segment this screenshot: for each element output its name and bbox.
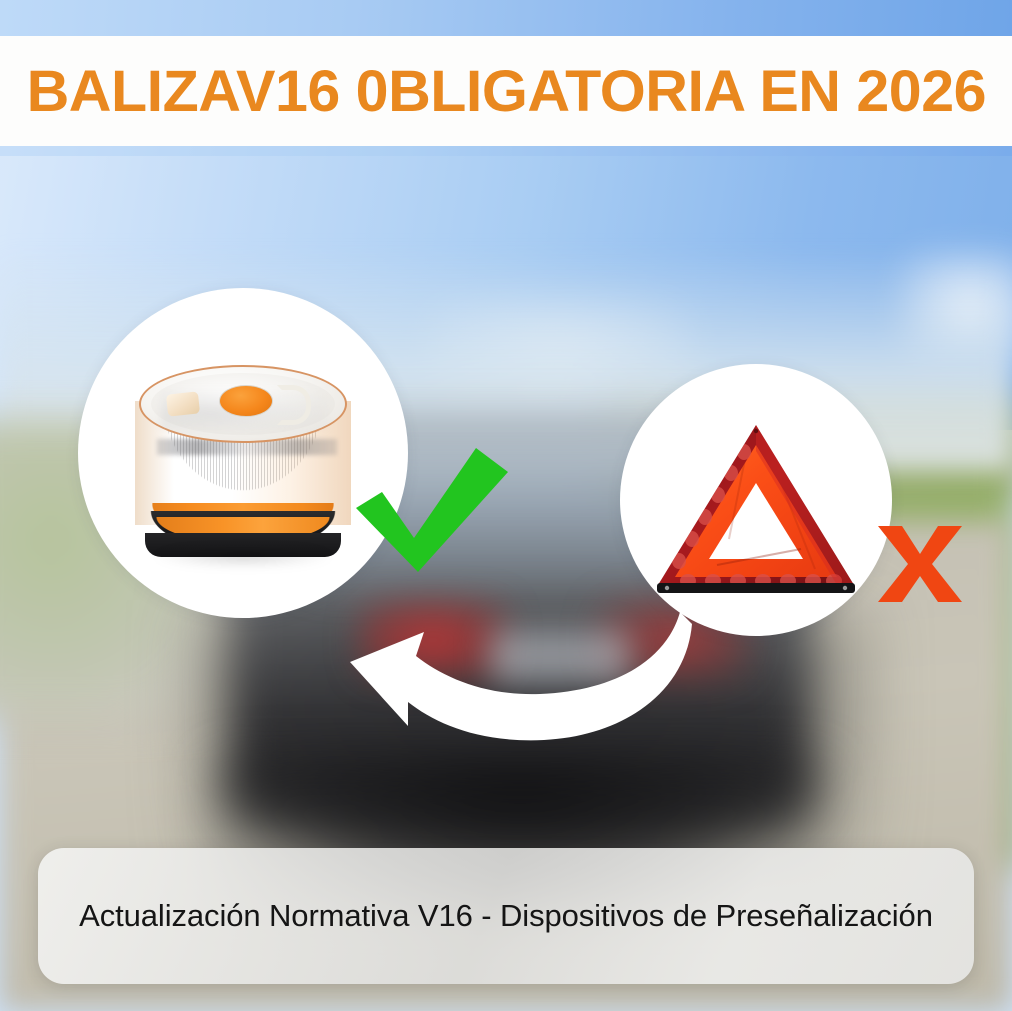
baliza-v16-illustration xyxy=(127,365,359,555)
title-band-underline xyxy=(0,146,1012,156)
page-title: BALIZAV16 0BLIGATORIA EN 2026 xyxy=(26,58,985,125)
beacon-hook-clip xyxy=(277,385,311,425)
transition-arrow xyxy=(340,596,710,756)
triangulo-emergencia-illustration xyxy=(651,419,861,597)
check-mark-icon xyxy=(352,442,512,577)
title-band: BALIZAV16 0BLIGATORIA EN 2026 xyxy=(0,36,1012,146)
beacon-label-chip xyxy=(166,391,200,416)
beacon-power-button xyxy=(219,385,273,417)
caption-banner: Actualización Normativa V16 - Dispositiv… xyxy=(38,848,974,984)
approved-verdict xyxy=(352,442,512,577)
x-mark-icon xyxy=(868,512,972,608)
curved-arrow-icon xyxy=(340,596,710,756)
warning-triangle-svg xyxy=(651,419,861,597)
poster-canvas: BALIZAV16 0BLIGATORIA EN 2026 xyxy=(0,0,1012,1011)
rejected-verdict xyxy=(868,512,972,608)
beacon-contact-shadow xyxy=(153,549,333,567)
top-blue-strip xyxy=(0,0,1012,36)
caption-text: Actualización Normativa V16 - Dispositiv… xyxy=(79,898,933,934)
